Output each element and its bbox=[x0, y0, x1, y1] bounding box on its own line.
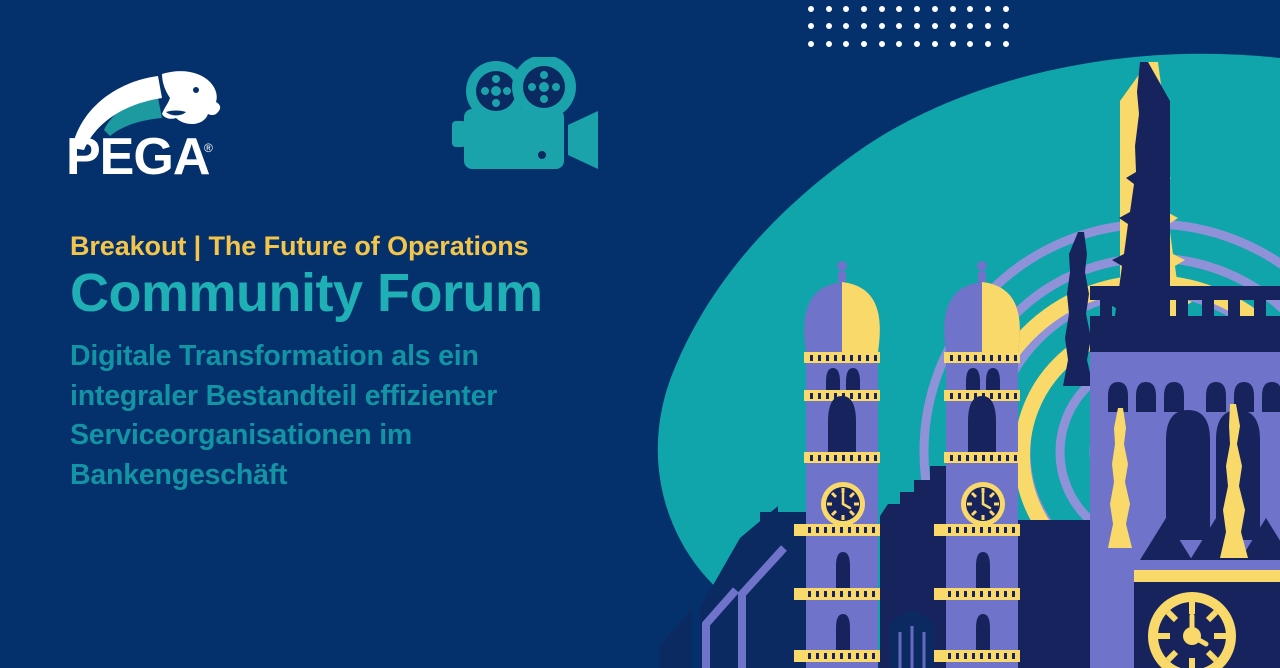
frauenkirche-tower-right bbox=[934, 261, 1020, 668]
pega-logo: PEGA ® bbox=[66, 52, 226, 182]
registered-mark: ® bbox=[204, 141, 213, 155]
pega-horse-logo: PEGA ® bbox=[66, 52, 226, 182]
slide-canvas: PEGA ® bbox=[0, 0, 1280, 668]
camera-viewfinder-dot bbox=[538, 151, 546, 159]
dot-grid-pattern bbox=[808, 6, 1020, 58]
title-block: Breakout | The Future of Operations Comm… bbox=[70, 232, 670, 496]
session-subtitle: Digitale Transformation als ein integral… bbox=[70, 337, 610, 497]
pega-wordmark: PEGA ® bbox=[66, 128, 213, 182]
logo-horse-head bbox=[162, 71, 220, 124]
tower-clock-left bbox=[821, 482, 865, 526]
session-eyebrow: Breakout | The Future of Operations bbox=[70, 232, 670, 260]
frauenkirche-tower-left bbox=[794, 261, 880, 668]
camera-lens-cone bbox=[568, 111, 598, 169]
tower-clock-right bbox=[961, 482, 1005, 526]
logo-horse-eye bbox=[193, 87, 199, 93]
svg-text:PEGA: PEGA bbox=[66, 128, 210, 182]
camera-knob bbox=[452, 121, 466, 147]
movie-camera-icon bbox=[452, 57, 617, 179]
page-title: Community Forum bbox=[70, 264, 670, 322]
